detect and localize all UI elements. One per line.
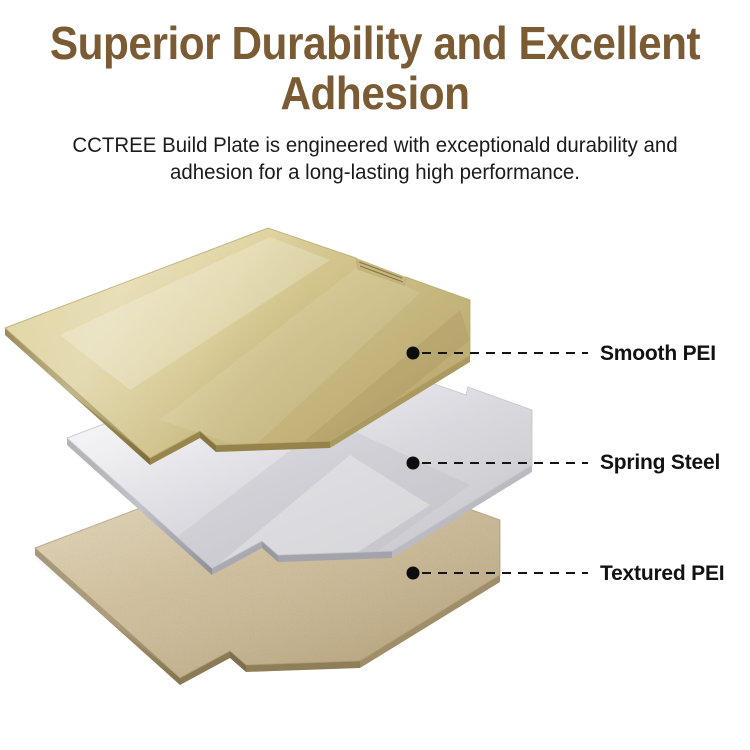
page-subtitle: CCTREE Build Plate is engineered with ex…: [19, 118, 732, 186]
exploded-layer-diagram: [0, 205, 750, 750]
callout-dot-smooth-pei: [407, 347, 420, 360]
product-feature-poster: Superior Durability and Excellent Adhesi…: [0, 0, 750, 750]
build-plate-illustration: [0, 205, 750, 750]
callout-dot-textured-pei: [407, 567, 420, 580]
callout-label-spring-steel: Spring Steel: [600, 452, 720, 474]
callout-label-smooth-pei: Smooth PEI: [600, 343, 716, 365]
callout-dot-spring-steel: [407, 457, 420, 470]
page-title: Superior Durability and Excellent Adhesi…: [30, 0, 720, 118]
callout-label-textured-pei: Textured PEI: [600, 563, 724, 585]
header-block: Superior Durability and Excellent Adhesi…: [0, 0, 750, 186]
